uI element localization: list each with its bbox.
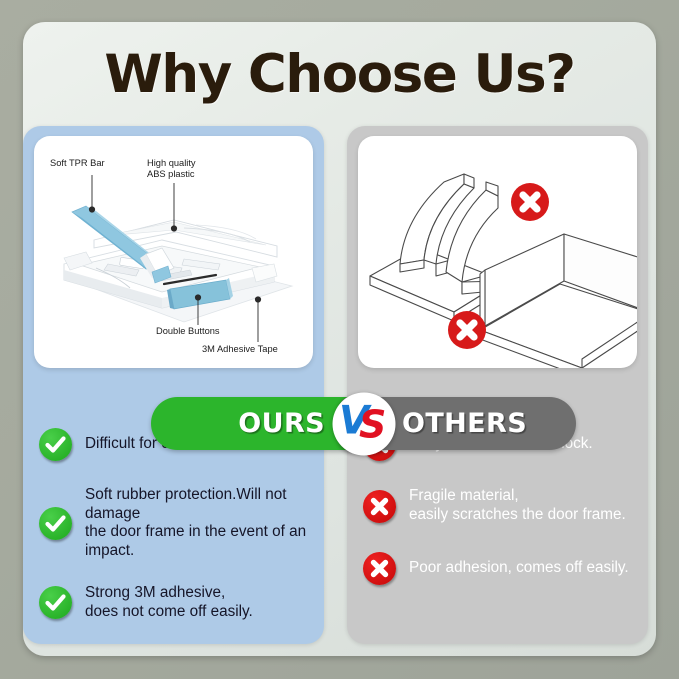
list-item: Fragile material, easily scratches the d… (363, 486, 638, 526)
diagram-label-3m-adhesive-tape: 3M Adhesive Tape (202, 344, 278, 355)
x-circle-icon (448, 311, 486, 349)
vs-letter-s: S (359, 405, 386, 443)
check-circle-icon (39, 428, 72, 461)
competitor-diagram (358, 136, 637, 368)
product-diagram-card: Soft TPR Bar High quality ABS plastic Do… (34, 136, 313, 368)
x-circle-icon (363, 490, 396, 523)
versus-banner: OURS OTHERS V S (151, 397, 576, 450)
check-circle-icon (39, 507, 72, 540)
ours-panel: Soft TPR Bar High quality ABS plastic Do… (23, 126, 324, 644)
list-item-label: Fragile material, easily scratches the d… (409, 487, 626, 524)
list-item-label: Poor adhesion, comes off easily. (409, 559, 629, 578)
list-item-label: Soft rubber protection.Will not damage t… (85, 486, 314, 561)
x-circle-icon (363, 552, 396, 585)
diagram-label-double-buttons: Double Buttons (156, 326, 220, 337)
list-item: Strong 3M adhesive, does not come off ea… (39, 583, 314, 623)
ours-feature-list: Difficult for children to unlock. Soft r… (39, 424, 314, 645)
vs-badge: V S (332, 392, 395, 455)
x-circle-icon (511, 183, 549, 221)
others-feature-list: Easy for children to unlock. Fragile mat… (363, 424, 638, 610)
diagram-label-abs-plastic: High quality ABS plastic (147, 158, 196, 180)
check-circle-icon (39, 586, 72, 619)
list-item: Poor adhesion, comes off easily. (363, 548, 638, 588)
list-item-label: Strong 3M adhesive, does not come off ea… (85, 584, 253, 621)
diagram-label-soft-tpr-bar: Soft TPR Bar (50, 158, 105, 169)
others-panel: Easy for children to unlock. Fragile mat… (347, 126, 648, 644)
comparison-card: Why Choose Us? (23, 22, 656, 656)
list-item: Soft rubber protection.Will not damage t… (39, 486, 314, 561)
page-title: Why Choose Us? (23, 44, 656, 105)
competitor-diagram-card (358, 136, 637, 368)
